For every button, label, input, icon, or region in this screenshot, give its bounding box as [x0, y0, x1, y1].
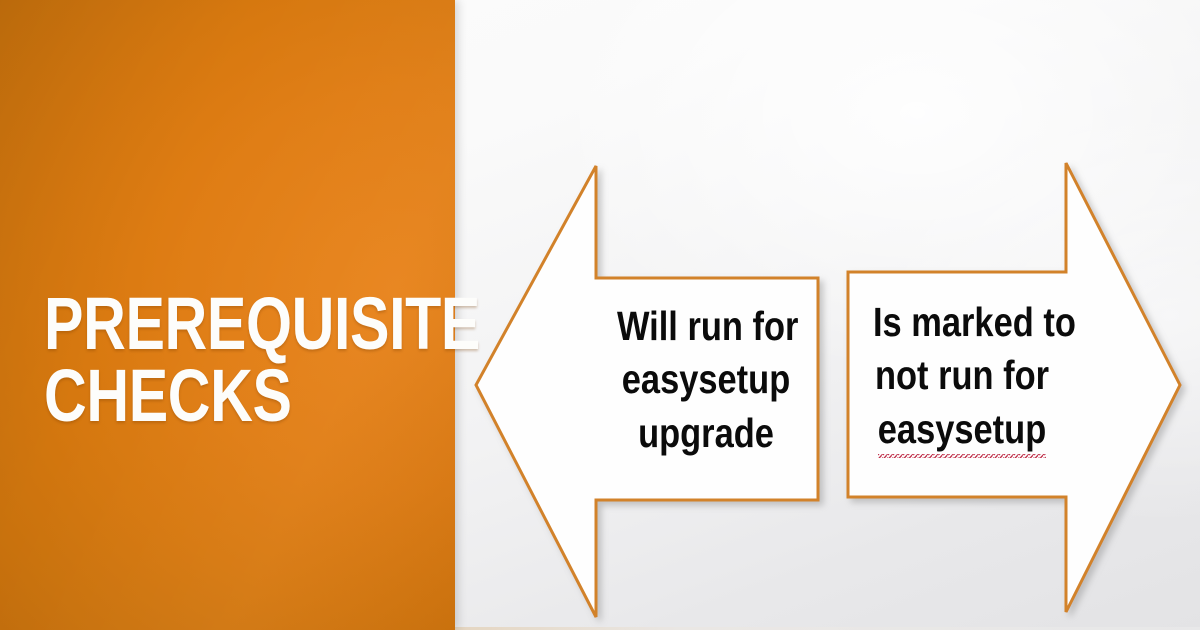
left-arrow-label: Will run for easysetup upgrade	[600, 300, 812, 460]
slide-canvas: PREREQUISITE CHECKS Will run for easyset…	[0, 0, 1200, 630]
right-arrow-label-line-1: Is marked to	[873, 296, 1051, 349]
left-arrow-label-line-3: upgrade	[617, 407, 795, 460]
right-arrow-label-line-2: not run for	[873, 349, 1051, 402]
right-arrow-label: Is marked to not run for easysetup	[856, 296, 1068, 458]
page-title-line-1: PREREQUISITE	[44, 288, 364, 360]
left-arrow-label-line-2: easysetup	[617, 353, 795, 406]
spellcheck-misspelled-word: easysetup	[878, 403, 1046, 458]
right-arrow-label-line-3: easysetup	[873, 403, 1051, 458]
left-arrow-label-line-1: Will run for	[617, 300, 795, 353]
page-title-line-2: CHECKS	[44, 360, 364, 432]
page-title: PREREQUISITE CHECKS	[44, 288, 444, 432]
